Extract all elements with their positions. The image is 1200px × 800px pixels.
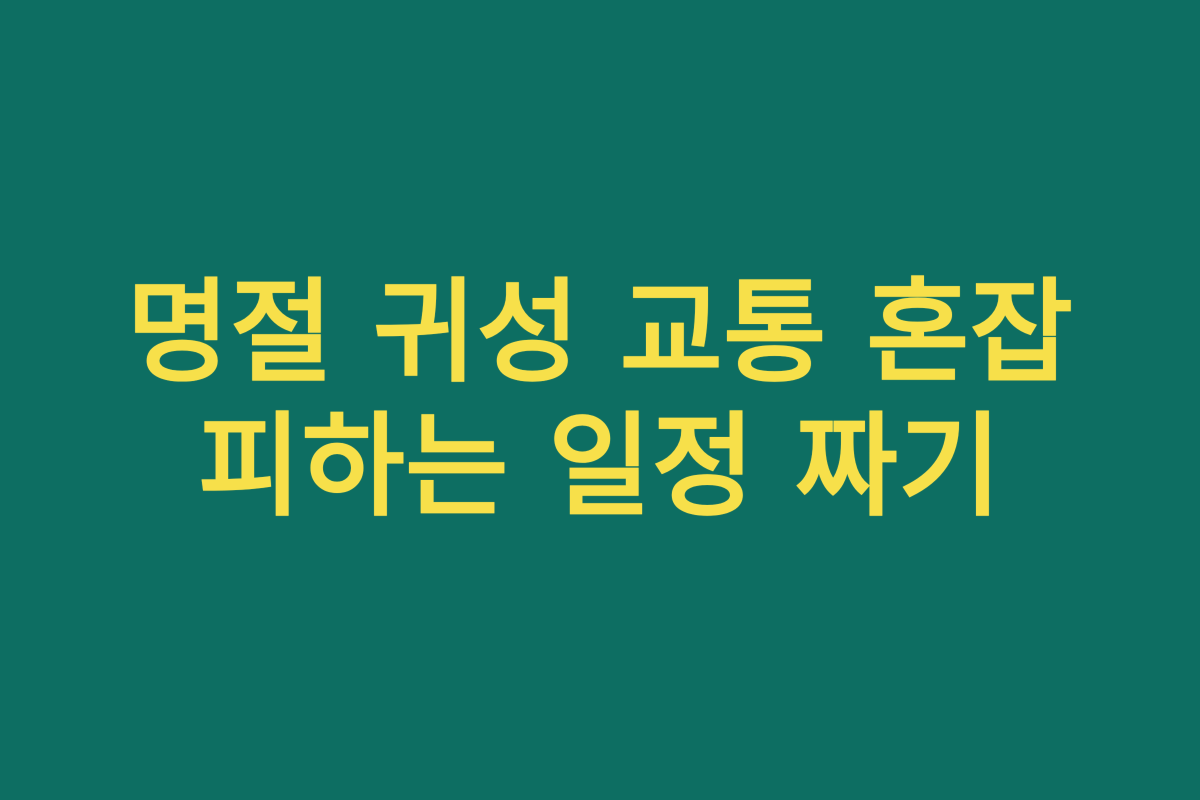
title-card-banner: 명절 귀성 교통 혼잡 피하는 일정 짜기 [0,0,1200,800]
title-text-block: 명절 귀성 교통 혼잡 피하는 일정 짜기 [100,266,1100,535]
page-title: 명절 귀성 교통 혼잡 피하는 일정 짜기 [110,266,1090,535]
